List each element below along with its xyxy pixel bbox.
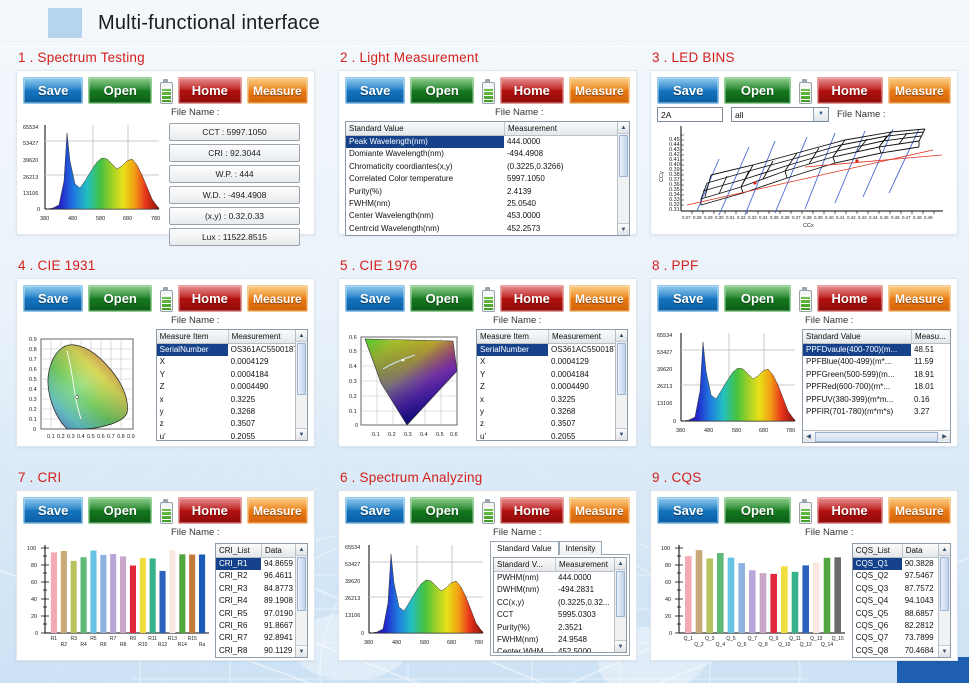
home-button[interactable]: Home (178, 77, 242, 104)
page-header: Multi-functional interface (0, 0, 969, 46)
open-button[interactable]: Open (88, 497, 152, 524)
svg-text:0.3: 0.3 (67, 434, 75, 439)
battery-icon (482, 499, 492, 522)
svg-text:780: 780 (786, 428, 795, 434)
table-row[interactable]: z0.3507 (157, 418, 307, 430)
scroll-right-icon[interactable]: ▶ (939, 431, 950, 441)
svg-text:26213: 26213 (657, 384, 672, 390)
svg-text:0.39: 0.39 (814, 215, 823, 220)
svg-text:65534: 65534 (23, 125, 38, 131)
file-name-label: File Name : (345, 315, 630, 327)
cell-value: 0.0004129 (548, 356, 621, 368)
home-button[interactable]: Home (500, 497, 564, 524)
cell-label: CRI_R5 (216, 608, 261, 620)
bin-filter-value: all (735, 110, 744, 120)
scrollbar-thumb[interactable] (619, 135, 628, 177)
measure-button[interactable]: Measure (888, 77, 951, 104)
toolbar: Save Open Home Measure (23, 77, 308, 104)
tab-bar: Standard Value Intensity (490, 541, 630, 555)
home-button[interactable]: Home (817, 77, 883, 104)
table-row[interactable]: Peak Wavelength(nm)444.0000 (346, 136, 629, 148)
bar-label: R6 (100, 642, 107, 648)
svg-text:0.47: 0.47 (902, 215, 911, 220)
panel-grid: 1 . Spectrum Testing Save Open Home Meas… (0, 50, 969, 675)
scroll-up-icon[interactable]: ▲ (296, 544, 307, 556)
cqs-bar-chart: 1008060 40200 Q_1Q_2Q_3Q_4Q_5Q_6Q_7Q_8Q_… (657, 541, 846, 659)
svg-text:0: 0 (35, 631, 38, 637)
table-row[interactable]: CC(x,y)(0.3225,0.32... (494, 597, 626, 609)
cell-value: 94.1043 (902, 595, 943, 607)
svg-text:CCy: CCy (659, 171, 665, 182)
panel-led-bins: 3 . LED BINS Save Open Home Measure 2A (650, 50, 966, 246)
vertical-scrollbar[interactable]: ▲ ▼ (614, 558, 626, 652)
table-row[interactable]: FWHM(nm)24.9548 (494, 634, 626, 646)
table-row[interactable]: u'0.2055 (477, 431, 627, 441)
open-button[interactable]: Open (410, 285, 474, 312)
cell-value: 0.0004129 (228, 356, 303, 368)
home-button[interactable]: Home (817, 285, 883, 312)
table-row[interactable]: x0.3225 (157, 394, 307, 406)
home-button[interactable]: Home (178, 497, 242, 524)
info-wp[interactable]: W.P. : 444 (169, 165, 300, 183)
table-row[interactable]: Center Wavelength(nm)453.0000 (346, 210, 629, 222)
home-button[interactable]: Home (500, 77, 564, 104)
table-row[interactable]: PPFBlue(400-499)(m*...11.59 (803, 356, 950, 368)
measure-button[interactable]: Measure (247, 77, 308, 104)
cell-label: z (477, 418, 548, 430)
spectrum-chart: 65534 53427 39620 26213 13106 0 380 480 … (23, 121, 163, 226)
table-row[interactable]: PPFUV(380-399)(m*m...0.16 (803, 394, 950, 406)
bar-label: R11 (148, 636, 157, 642)
info-cct[interactable]: CCT : 5997.1050 (169, 123, 300, 141)
cell-label: X (477, 356, 548, 368)
save-button[interactable]: Save (345, 497, 405, 524)
bar (813, 563, 820, 634)
table-row[interactable]: CRI_R792.8941 (216, 632, 307, 644)
table-row[interactable]: PWHM(nm)444.0000 (494, 572, 626, 584)
cell-value: 0.0004490 (548, 381, 621, 393)
svg-text:0.33: 0.33 (748, 215, 757, 220)
svg-text:0.8: 0.8 (29, 347, 37, 353)
svg-text:380: 380 (364, 640, 373, 646)
scroll-down-icon[interactable]: ▼ (939, 645, 950, 657)
table-row[interactable]: Y0.0004184 (477, 369, 627, 381)
open-button[interactable]: Open (88, 285, 152, 312)
cell-value: 0.3507 (228, 418, 303, 430)
svg-text:0.34: 0.34 (759, 215, 768, 220)
table-row[interactable]: z0.3507 (477, 418, 627, 430)
svg-text:60: 60 (31, 580, 37, 586)
cell-label: Purity(%) (346, 186, 504, 198)
toolbar: Save Open Home Measure (23, 285, 308, 312)
svg-text:26213: 26213 (23, 175, 38, 181)
table-row[interactable]: CRI_R890.1129 (216, 645, 307, 657)
table-row[interactable]: CRI_R384.8773 (216, 583, 307, 595)
svg-text:0: 0 (673, 419, 676, 425)
svg-text:53427: 53427 (657, 350, 672, 356)
scroll-down-icon[interactable]: ▼ (618, 223, 629, 235)
cell-label: CRI_R2 (216, 570, 261, 582)
save-button[interactable]: Save (657, 285, 719, 312)
cell-label: SerialNumber (157, 344, 228, 356)
cell-label: PPFUV(380-399)(m*m... (803, 394, 911, 406)
cell-value: 2.3521 (555, 622, 620, 634)
bar (738, 563, 745, 633)
table-row[interactable]: CQS_Q297.5467 (853, 570, 950, 582)
table-header: Standard V... Measurement (494, 558, 626, 572)
open-button[interactable]: Open (724, 77, 790, 104)
table-row[interactable]: CRI_R597.0190 (216, 608, 307, 620)
bar (140, 558, 146, 633)
svg-text:0.6: 0.6 (29, 367, 37, 373)
bar (150, 558, 156, 633)
bin-code-input[interactable]: 2A (657, 107, 723, 122)
bar-label: R15 (188, 636, 197, 642)
save-button[interactable]: Save (345, 77, 405, 104)
cie-1976-table[interactable]: Measure Item Measurement SerialNumberOS3… (476, 329, 628, 441)
table-row[interactable]: SerialNumberOS361AC55001870 (157, 344, 307, 356)
cell-label: Centrcid Wavelength(nm) (346, 223, 504, 235)
cell-value: 73.7899 (902, 632, 943, 644)
cell-value: 79.4436 (261, 657, 300, 658)
svg-text:0.2: 0.2 (57, 434, 65, 439)
cell-label: CQS_Q2 (853, 570, 902, 582)
svg-text:0.1: 0.1 (29, 417, 37, 423)
svg-text:13106: 13106 (657, 401, 672, 407)
horizontal-scrollbar[interactable]: ◀ ▶ (803, 430, 950, 442)
cell-label: y (477, 406, 548, 418)
svg-text:100: 100 (661, 546, 670, 552)
info-cri[interactable]: CRI : 92.3044 (169, 144, 300, 162)
battery-icon (160, 79, 170, 102)
info-xy[interactable]: (x,y) : 0.32,0.33 (169, 207, 300, 225)
svg-text:100: 100 (27, 546, 36, 552)
ppf-table[interactable]: Standard Value Measu... PPFDvaule(400-70… (802, 329, 951, 443)
table-row[interactable]: CCT5995.0303 (494, 609, 626, 621)
vertical-scrollbar[interactable]: ▲ ▼ (295, 330, 307, 440)
table-row[interactable]: Correlated Color temperature5997.1050 (346, 173, 629, 185)
cell-value: 90.3828 (902, 558, 943, 570)
svg-text:0.2: 0.2 (29, 407, 37, 413)
svg-text:0.7: 0.7 (107, 434, 115, 439)
svg-text:0.6: 0.6 (450, 432, 458, 438)
save-button[interactable]: Save (23, 77, 83, 104)
measure-button[interactable]: Measure (569, 497, 630, 524)
measure-button[interactable]: Measure (888, 285, 951, 312)
measure-button[interactable]: Measure (247, 285, 308, 312)
cell-label: FWHM(nm) (346, 198, 504, 210)
table-row[interactable]: Z0.0004490 (157, 381, 307, 393)
save-button[interactable]: Save (657, 497, 719, 524)
table-row[interactable]: y0.3268 (477, 406, 627, 418)
cell-value: OS361AC55001870 (228, 344, 303, 356)
open-button[interactable]: Open (410, 497, 474, 524)
svg-text:0.4: 0.4 (349, 364, 357, 370)
cell-value: 5995.0303 (555, 609, 620, 621)
cell-value: 18.01 (911, 381, 944, 393)
cell-label: CRI_R1 (216, 558, 261, 570)
bar (61, 551, 67, 633)
bar-label: R2 (61, 642, 68, 648)
svg-text:0.4: 0.4 (29, 387, 37, 393)
open-button[interactable]: Open (724, 285, 790, 312)
cell-value: 0.3507 (548, 418, 621, 430)
table-row[interactable]: CQS_Q682.2812 (853, 620, 950, 632)
panel-cie-1931: 4 . CIE 1931 Save Open Home Measure File… (0, 258, 338, 458)
info-lux[interactable]: Lux : 11522.8515 (169, 228, 300, 246)
table-row[interactable]: Chromaticity coordiantes(x,y)(0.3225,0.3… (346, 161, 629, 173)
cell-value: 452.2573 (504, 223, 623, 235)
open-button[interactable]: Open (88, 77, 152, 104)
scroll-up-icon[interactable]: ▲ (616, 330, 627, 342)
bar-label: Q_7 (748, 636, 758, 642)
bar-label: Q_12 (800, 642, 812, 648)
table-row[interactable]: Centrcid Wavelength(nm)452.2573 (346, 223, 629, 235)
svg-text:0: 0 (33, 427, 36, 433)
cie-1931-table[interactable]: Measure Item Measurement SerialNumberOS3… (156, 329, 308, 441)
bar (770, 574, 777, 633)
file-name-label: File Name : (23, 527, 308, 539)
cell-label: x (477, 394, 548, 406)
svg-text:0.7: 0.7 (29, 357, 37, 363)
measure-button[interactable]: Measure (247, 497, 308, 524)
file-name-label: File Name : (657, 315, 951, 327)
panel-spectrum-analyzing: 6 . Spectrum Analyzing Save Open Home Me… (338, 470, 650, 675)
table-row[interactable]: CQS_Q387.7572 (853, 583, 950, 595)
svg-text:580: 580 (96, 216, 105, 222)
cell-label: CRI_R9 (216, 657, 261, 658)
toolbar: Save Open Home Measure (657, 285, 951, 312)
table-row[interactable]: Domiante Wavelength(nm)-494.4908 (346, 148, 629, 160)
svg-text:0.44: 0.44 (869, 215, 878, 220)
table-row[interactable]: CRI_R296.4611 (216, 570, 307, 582)
vertical-scrollbar[interactable]: ▲ ▼ (617, 122, 629, 235)
table-row[interactable]: FWHM(nm)25.0540 (346, 198, 629, 210)
table-row[interactable]: y0.3268 (157, 406, 307, 418)
table-row[interactable]: PPFIR(701-780)(m*m*s)3.27 (803, 406, 950, 418)
bar (685, 556, 692, 633)
vertical-scrollbar[interactable]: ▲ ▼ (615, 330, 627, 440)
cell-label: CRI (346, 235, 504, 236)
cell-value: 0.2055 (548, 431, 621, 441)
scroll-down-icon[interactable]: ▼ (615, 640, 626, 652)
cell-label: Purity(%) (494, 622, 555, 634)
svg-text:39620: 39620 (23, 158, 38, 164)
table-row[interactable]: CRI92.3044 (346, 235, 629, 236)
svg-text:0.48: 0.48 (913, 215, 922, 220)
measure-button[interactable]: Measure (888, 497, 951, 524)
scroll-down-icon[interactable]: ▼ (296, 428, 307, 440)
cell-value: 24.9548 (555, 634, 620, 646)
cell-label: x (157, 394, 228, 406)
table-row[interactable]: CQS_Q588.6857 (853, 608, 950, 620)
toolbar: Save Open Home Measure (23, 497, 308, 524)
cell-label: CQS_Q9 (853, 657, 902, 658)
home-button[interactable]: Home (817, 497, 883, 524)
table-row[interactable]: Center WHM...452.5000 (494, 646, 626, 653)
scroll-down-icon[interactable]: ▼ (296, 645, 307, 657)
svg-text:680: 680 (447, 640, 456, 646)
cie-1976-chart: 0.60.50.4 0.30.20.1 0 0.10.20.3 0.40.50.… (345, 329, 470, 439)
measure-button[interactable]: Measure (569, 77, 630, 104)
table-row[interactable]: Z0.0004490 (477, 381, 627, 393)
table-row[interactable]: X0.0004129 (157, 356, 307, 368)
cell-label: Center Wavelength(nm) (346, 210, 504, 222)
save-button[interactable]: Save (657, 77, 719, 104)
table-row[interactable]: CRI_R489.1908 (216, 595, 307, 607)
table-row[interactable]: CRI_R979.4436 (216, 657, 307, 658)
table-row[interactable]: CRI_R691.8667 (216, 620, 307, 632)
scrollbar-thumb[interactable] (617, 343, 626, 395)
scroll-down-icon[interactable]: ▼ (616, 428, 627, 440)
table-row[interactable]: x0.3225 (477, 394, 627, 406)
table-row[interactable]: u'0.2055 (157, 431, 307, 441)
cell-value: 5997.1050 (504, 173, 623, 185)
light-measurement-table[interactable]: Standard Value Measurement Peak Waveleng… (345, 121, 630, 236)
spectrum-analyzing-table[interactable]: Standard V... Measurement PWHM(nm)444.00… (493, 557, 627, 653)
bar (802, 565, 809, 633)
svg-text:0.2: 0.2 (388, 432, 396, 438)
tab-standard-value[interactable]: Standard Value (490, 541, 559, 555)
table-row[interactable]: SerialNumberOS361AC55001870 (477, 344, 627, 356)
battery-icon (160, 499, 170, 522)
svg-text:0.9: 0.9 (29, 337, 37, 343)
column-measurement: Measurement (229, 330, 304, 343)
table-row[interactable]: Y0.0004184 (157, 369, 307, 381)
table-header: CRI_List Data (216, 544, 307, 558)
scroll-up-icon[interactable]: ▲ (296, 330, 307, 342)
open-button[interactable]: Open (724, 497, 790, 524)
cri-table[interactable]: CRI_List Data CRI_R194.8659 CRI_R296.461… (215, 543, 308, 658)
chevron-down-icon[interactable]: ▼ (813, 108, 828, 121)
file-name-label: File Name : (23, 107, 308, 119)
svg-text:0.41: 0.41 (836, 215, 845, 220)
bar (189, 555, 195, 634)
panel-title-led-bins: 3 . LED BINS (652, 50, 966, 65)
scroll-up-icon[interactable]: ▲ (615, 558, 626, 570)
cell-label: z (157, 418, 228, 430)
table-row[interactable]: Purity(%)2.4139 (346, 186, 629, 198)
bar (717, 553, 724, 633)
header-divider (0, 46, 969, 47)
cell-value: (0.3225,0.3266) (504, 161, 623, 173)
scroll-up-icon[interactable]: ▲ (618, 122, 629, 134)
scrollbar-thumb[interactable] (815, 432, 938, 442)
toolbar: Save Open Home Measure (345, 77, 630, 104)
svg-text:380: 380 (40, 216, 49, 222)
bin-filter-select[interactable]: all ▼ (731, 107, 829, 122)
table-row[interactable]: PPFDvaule(400-700)(m...48.51 (803, 344, 950, 356)
cell-value: OS361AC55001870 (548, 344, 621, 356)
file-name-label: File Name : (657, 527, 951, 539)
cell-label: CRI_R7 (216, 632, 261, 644)
tab-panel: Standard V... Measurement PWHM(nm)444.00… (490, 554, 630, 656)
vertical-scrollbar[interactable]: ▲ ▼ (938, 544, 950, 657)
cell-value: 0.3225 (548, 394, 621, 406)
scrollbar-thumb[interactable] (940, 557, 949, 611)
battery-icon (799, 79, 809, 102)
home-button[interactable]: Home (178, 285, 242, 312)
info-wd[interactable]: W.D. : -494.4908 (169, 186, 300, 204)
open-button[interactable]: Open (410, 77, 474, 104)
scrollbar-thumb[interactable] (616, 571, 625, 617)
table-row[interactable]: Purity(%)2.3521 (494, 622, 626, 634)
svg-text:0.3: 0.3 (404, 432, 412, 438)
cell-label: y (157, 406, 228, 418)
bar (760, 573, 767, 633)
table-row[interactable]: PPFRed(600-700)(m*...18.01 (803, 381, 950, 393)
measure-button[interactable]: Measure (569, 285, 630, 312)
table-row[interactable]: CQS_Q773.7899 (853, 632, 950, 644)
svg-text:680: 680 (123, 216, 132, 222)
file-name-label: File Name : (23, 315, 308, 327)
svg-text:13106: 13106 (345, 613, 360, 619)
panel-title-cri: 7 . CRI (18, 470, 338, 485)
svg-text:0.28: 0.28 (693, 215, 702, 220)
home-button[interactable]: Home (500, 285, 564, 312)
bar (792, 572, 799, 633)
save-button[interactable]: Save (23, 497, 83, 524)
scrollbar-thumb[interactable] (297, 557, 306, 611)
bar (169, 550, 175, 633)
panel-cie-1976: 5 . CIE 1976 Save Open Home Measure File… (338, 258, 650, 458)
scroll-left-icon[interactable]: ◀ (803, 431, 814, 441)
cell-label: CRI_R3 (216, 583, 261, 595)
save-button[interactable]: Save (345, 285, 405, 312)
bar-label: Q_15 (832, 636, 844, 642)
scrollbar-thumb[interactable] (297, 343, 306, 395)
cell-value: 452.5000 (555, 646, 620, 653)
table-row[interactable]: CQS_Q494.1043 (853, 595, 950, 607)
battery-icon (482, 79, 492, 102)
panel-title-cqs: 9 . CQS (652, 470, 966, 485)
cqs-table[interactable]: CQS_List Data CQS_Q190.3828 CQS_Q297.546… (852, 543, 951, 658)
column-measurement: Measu... (912, 330, 945, 343)
battery-icon (799, 499, 809, 522)
svg-text:0: 0 (355, 423, 358, 429)
column-standard-value: Standard V... (494, 558, 556, 571)
bar (120, 556, 126, 633)
table-row[interactable]: CRI_R194.8659 (216, 558, 307, 570)
table-row[interactable]: CQS_Q870.4684 (853, 645, 950, 657)
toolbar: Save Open Home Measure (657, 497, 951, 524)
svg-text:0.37: 0.37 (792, 215, 801, 220)
table-row[interactable]: DWHM(nm)-494.2831 (494, 584, 626, 596)
bar-label: R13 (168, 636, 177, 642)
svg-text:65534: 65534 (657, 333, 672, 339)
svg-text:0.1: 0.1 (47, 434, 55, 439)
table-row[interactable]: X0.0004129 (477, 356, 627, 368)
svg-text:0.5: 0.5 (87, 434, 95, 439)
column-measurement: Measurement (505, 122, 624, 135)
table-row[interactable]: PPFGreen(500-599)(m...18.91 (803, 369, 950, 381)
svg-text:0.8: 0.8 (117, 434, 125, 439)
cell-label: CQS_Q5 (853, 608, 902, 620)
cell-value: 69.5688 (902, 657, 943, 658)
tab-intensity[interactable]: Intensity (559, 541, 603, 555)
vertical-scrollbar[interactable]: ▲ ▼ (295, 544, 307, 657)
svg-text:80: 80 (31, 563, 37, 569)
save-button[interactable]: Save (23, 285, 83, 312)
battery-icon (160, 287, 170, 310)
svg-text:39620: 39620 (345, 579, 360, 585)
table-row[interactable]: CQS_Q969.5688 (853, 657, 950, 658)
scroll-up-icon[interactable]: ▲ (939, 544, 950, 556)
column-measurement: Measurement (556, 558, 621, 571)
svg-text:0.42: 0.42 (847, 215, 856, 220)
table-row[interactable]: CQS_Q190.3828 (853, 558, 950, 570)
cell-label: Y (477, 369, 548, 381)
